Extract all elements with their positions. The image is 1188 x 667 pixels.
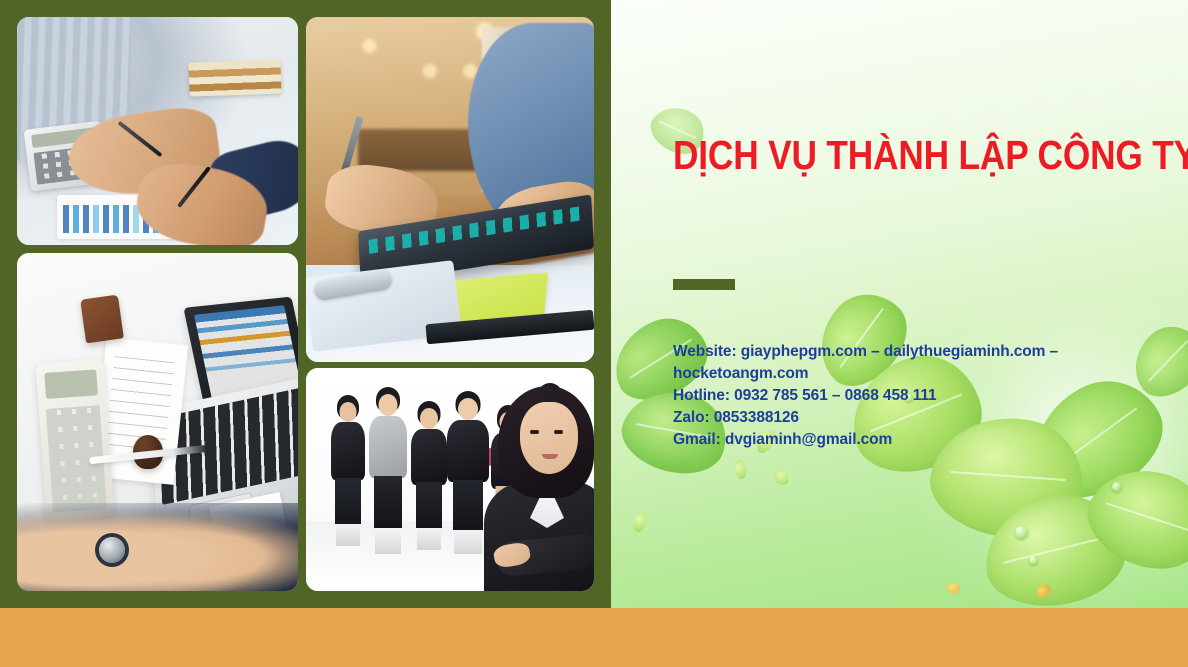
photo-business-team	[306, 368, 594, 591]
content-column: DỊCH VỤ THÀNH LẬP CÔNG TY Website: giayp…	[673, 0, 1143, 608]
contact-zalo: Zalo: 0853388126	[673, 407, 1125, 429]
photo-collage-panel	[0, 0, 611, 608]
photo-detail-hands	[17, 503, 298, 591]
photo-detail-person	[330, 398, 366, 530]
photo-detail-person	[410, 404, 448, 532]
slide-canvas: DỊCH VỤ THÀNH LẬP CÔNG TY Website: giayp…	[0, 0, 1188, 667]
contact-gmail: Gmail: dvgiaminh@gmail.com	[673, 429, 1125, 451]
photo-detail-stamp	[80, 295, 124, 344]
photo-hand-calculator	[306, 17, 594, 362]
page-title: DỊCH VỤ THÀNH LẬP CÔNG TY	[673, 133, 1077, 177]
photo-detail-calculator	[36, 359, 115, 521]
photo-detail-person	[368, 390, 408, 534]
photo-detail-watch	[99, 537, 125, 563]
contact-info-block: Website: giayphepgm.com – dailythuegiami…	[673, 341, 1125, 451]
photo-meeting-desk	[17, 17, 298, 245]
photo-detail-foreground-woman	[472, 386, 594, 591]
leaf-speck-icon	[632, 511, 647, 533]
bottom-accent-bar	[0, 608, 1188, 667]
title-divider	[673, 279, 735, 290]
contact-website: Website: giayphepgm.com – dailythuegiami…	[673, 341, 1125, 385]
photo-laptop-flatlay	[17, 253, 298, 591]
photo-detail-books	[188, 59, 281, 96]
contact-hotline: Hotline: 0932 785 561 – 0868 458 111	[673, 385, 1125, 407]
